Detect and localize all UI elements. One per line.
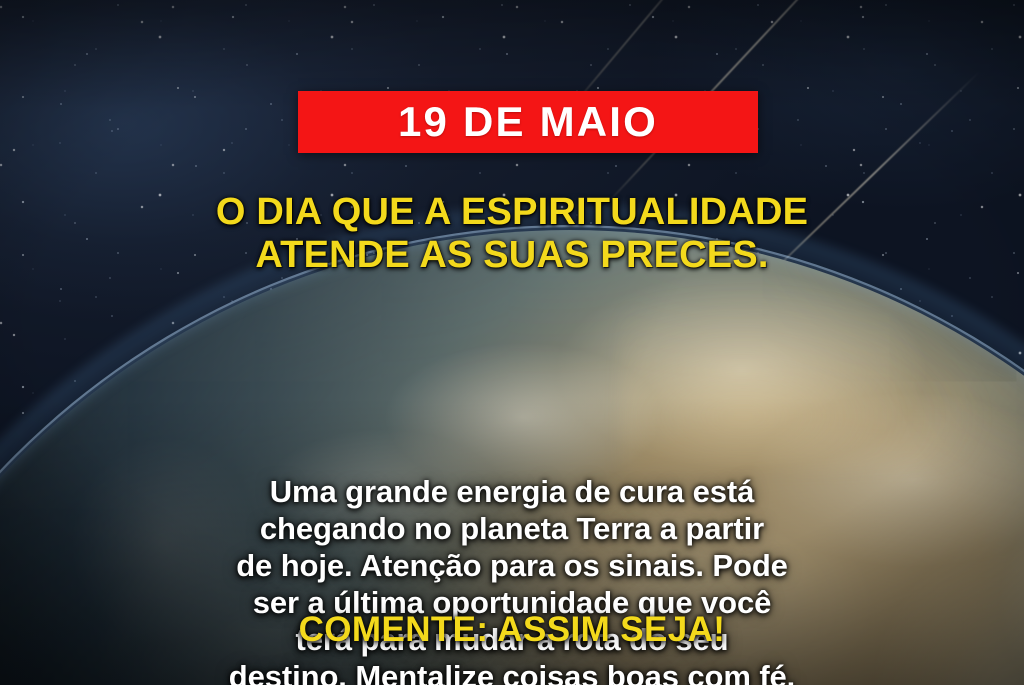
call-to-action-text: COMENTE: ASSIM SEJA! (0, 612, 1024, 647)
body-line-2: chegando no planeta Terra a partir (50, 510, 974, 547)
poster-content: 19 DE MAIO O DIA QUE A ESPIRITUALIDADE A… (0, 0, 1024, 685)
body-line-6: destino. Mentalize coisas boas com fé. (50, 658, 974, 685)
date-banner-text: 19 DE MAIO (398, 101, 658, 143)
body-copy: Uma grande energia de cura está chegando… (50, 473, 974, 685)
headline-line-1: O DIA QUE A ESPIRITUALIDADE (0, 191, 1024, 234)
date-banner: 19 DE MAIO (298, 91, 758, 153)
headline-line-2: ATENDE AS SUAS PRECES. (0, 234, 1024, 277)
body-line-1: Uma grande energia de cura está (50, 473, 974, 510)
headline: O DIA QUE A ESPIRITUALIDADE ATENDE AS SU… (0, 191, 1024, 277)
poster-canvas: 19 DE MAIO O DIA QUE A ESPIRITUALIDADE A… (0, 0, 1024, 685)
body-line-3: de hoje. Atenção para os sinais. Pode (50, 547, 974, 584)
